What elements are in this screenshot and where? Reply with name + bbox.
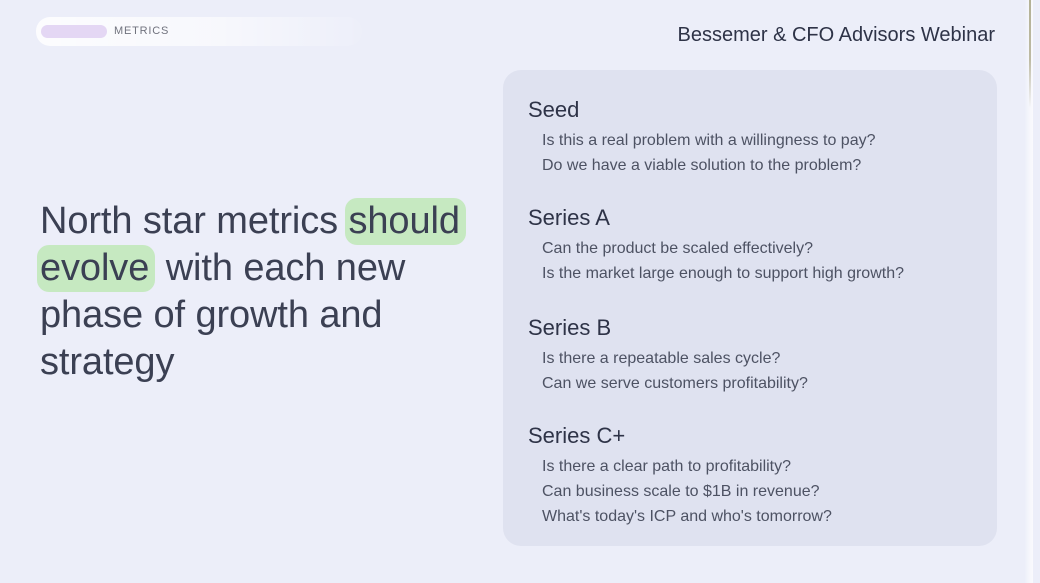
webinar-title: Bessemer & CFO Advisors Webinar: [677, 21, 995, 49]
metrics-badge-pill: [41, 25, 107, 38]
stage-question: What's today's ICP and who's tomorrow?: [542, 504, 988, 529]
stage-question: Do we have a viable solution to the prob…: [542, 153, 988, 178]
stage-series-c-plus: Series C+ Is there a clear path to profi…: [528, 421, 988, 529]
headline-part-before: North star metrics: [40, 200, 348, 242]
stage-question: Can we serve customers profitability?: [542, 371, 988, 396]
stage-series-a: Series A Can the product be scaled effec…: [528, 203, 988, 286]
stage-question: Is there a repeatable sales cycle?: [542, 346, 988, 371]
stage-title: Series B: [528, 313, 988, 343]
right-edge-fill: [1033, 0, 1040, 583]
headline: North star metrics should evolve with ea…: [40, 198, 492, 386]
stage-question: Can the product be scaled effectively?: [542, 236, 988, 261]
metrics-badge-label: METRICS: [114, 24, 169, 38]
stage-title: Seed: [528, 95, 988, 125]
stages-panel: Seed Is this a real problem with a willi…: [503, 70, 997, 546]
stage-question: Is this a real problem with a willingnes…: [542, 128, 988, 153]
stage-question: Can business scale to $1B in revenue?: [542, 479, 988, 504]
stage-title: Series C+: [528, 421, 988, 451]
stage-title: Series A: [528, 203, 988, 233]
right-edge-accent-line: [1029, 0, 1031, 108]
stage-seed: Seed Is this a real problem with a willi…: [528, 95, 988, 178]
slide-root: METRICS Bessemer & CFO Advisors Webinar …: [0, 0, 1040, 583]
stage-series-b: Series B Is there a repeatable sales cyc…: [528, 313, 988, 396]
stage-question: Is the market large enough to support hi…: [542, 261, 988, 286]
stage-question: Is there a clear path to profitability?: [542, 454, 988, 479]
